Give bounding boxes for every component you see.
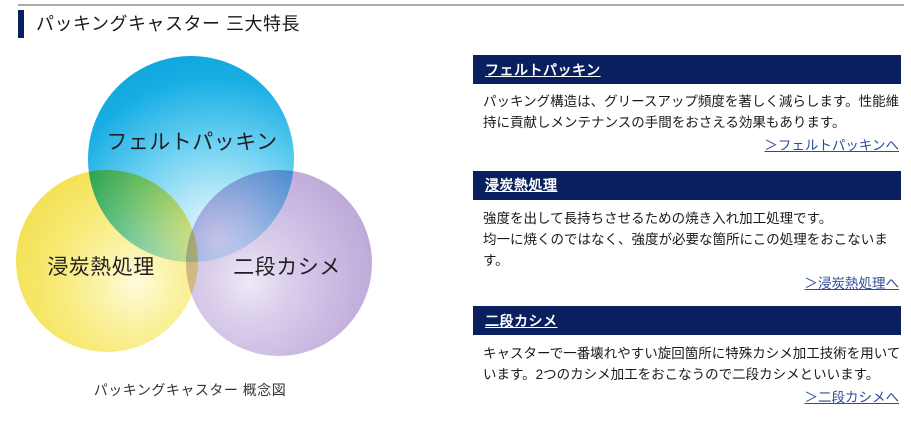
top-divider — [18, 4, 904, 6]
section-link-felt-packing[interactable]: ＞フェルトパッキンへ — [764, 138, 899, 153]
venn-stage: フェルトパッキン 浸炭熱処理 二段カシメ — [0, 50, 400, 380]
section-body-double-caulking: キャスターで一番壊れやすい旋回箇所に特殊カシメ加工技術を用いています。2つのカシ… — [473, 335, 901, 409]
feature-section-carburizing-heat-treatment: 浸炭熱処理 強度を出して長持ちさせるための焼き入れ加工処理です。 均一に焼くので… — [473, 171, 901, 295]
venn-diagram: フェルトパッキン 浸炭熱処理 二段カシメ パッキングキャスター 概念図 — [0, 50, 400, 410]
venn-caption: パッキングキャスター 概念図 — [0, 380, 380, 400]
section-body-text: パッキング構造は、グリースアップ頻度を著しく減らします。性能維持に貢献しメンテナ… — [483, 92, 901, 134]
page-title: パッキングキャスター 三大特長 — [36, 10, 300, 38]
section-link-row: ＞二段カシメへ — [483, 386, 901, 409]
section-header-label: フェルトパッキン — [485, 60, 601, 80]
section-body-carburizing-heat-treatment: 強度を出して長持ちさせるための焼き入れ加工処理です。 均一に焼くのではなく、強度… — [473, 200, 901, 295]
feature-panel: フェルトパッキン パッキング構造は、グリースアップ頻度を著しく減らします。性能維… — [473, 55, 901, 421]
section-link-double-caulking[interactable]: ＞二段カシメへ — [805, 390, 900, 405]
section-body-text: キャスターで一番壊れやすい旋回箇所に特殊カシメ加工技術を用いています。2つのカシ… — [483, 344, 901, 386]
page-title-block: パッキングキャスター 三大特長 — [18, 10, 300, 38]
section-link-row: ＞フェルトパッキンへ — [483, 134, 901, 157]
section-header-label: 浸炭熱処理 — [485, 175, 558, 195]
page-root: パッキングキャスター 三大特長 フェルトパッキン 浸炭熱処理 二段カシメ パッキ… — [0, 0, 911, 448]
section-link-row: ＞浸炭熱処理へ — [483, 272, 901, 295]
section-header-carburizing-heat-treatment[interactable]: 浸炭熱処理 — [473, 171, 901, 200]
section-header-felt-packing[interactable]: フェルトパッキン — [473, 55, 901, 84]
venn-label-carburizing-heat-treatment: 浸炭熱処理 — [26, 251, 176, 281]
section-body-felt-packing: パッキング構造は、グリースアップ頻度を著しく減らします。性能維持に貢献しメンテナ… — [473, 84, 901, 157]
section-body-text: 強度を出して長持ちさせるための焼き入れ加工処理です。 均一に焼くのではなく、強度… — [483, 209, 901, 272]
venn-label-double-caulking: 二段カシメ — [212, 251, 362, 281]
section-link-carburizing-heat-treatment[interactable]: ＞浸炭熱処理へ — [805, 276, 900, 291]
venn-label-felt-packing: フェルトパッキン — [104, 126, 280, 156]
feature-section-double-caulking: 二段カシメ キャスターで一番壊れやすい旋回箇所に特殊カシメ加工技術を用いています… — [473, 306, 901, 409]
section-header-label: 二段カシメ — [485, 311, 558, 331]
feature-section-felt-packing: フェルトパッキン パッキング構造は、グリースアップ頻度を著しく減らします。性能維… — [473, 55, 901, 157]
section-header-double-caulking[interactable]: 二段カシメ — [473, 306, 901, 335]
title-accent-bar — [18, 10, 24, 38]
